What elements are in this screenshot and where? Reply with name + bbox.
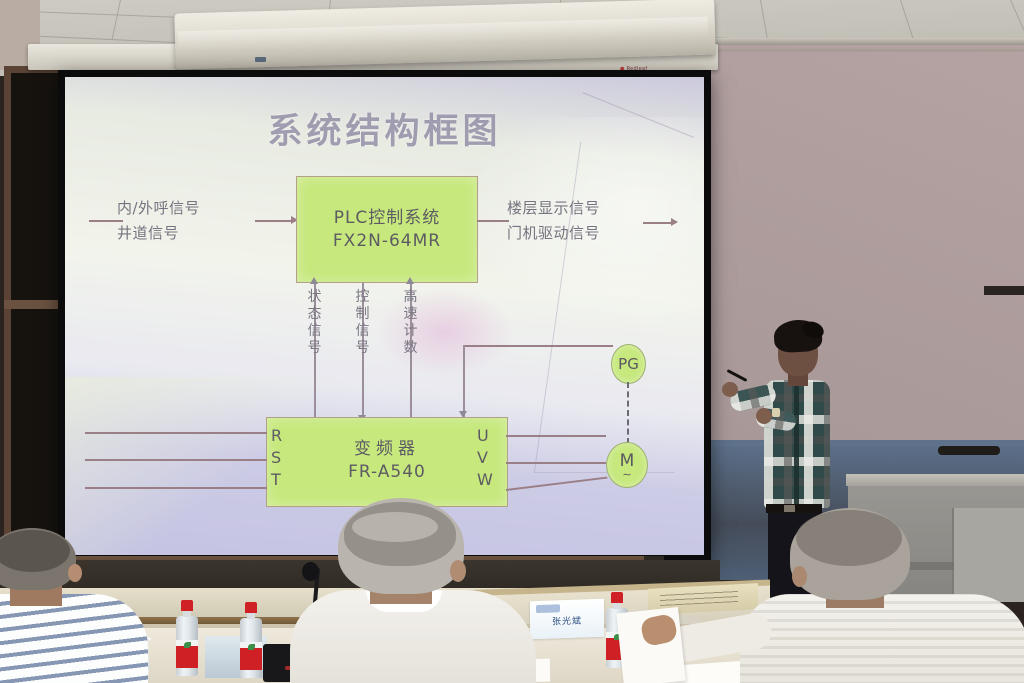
water-bottle-2 [240,602,262,678]
bottle-label-red [176,646,198,668]
wall-cornice-shadow [706,49,1024,52]
podium-top-surface [846,474,1024,486]
input-wire-stub [89,220,123,222]
attendee-middle [296,498,526,683]
presenter-right-hand [756,408,772,424]
bottle-neck [247,612,255,619]
input-wire-to-plc [255,220,295,222]
inverter-output-terminals: U V W [477,425,493,491]
shirt-placket [794,380,799,508]
motor-line-v [506,462,606,464]
water-bottle-1 [176,600,198,676]
bottle-leaf-logo [184,642,191,648]
vertical-label-highspeed: 高速计数 [403,289,418,357]
wall-shelf-bracket [984,286,1024,295]
pg-feedback-wire-v [463,345,465,417]
output-label-line1: 楼层显示信号 [507,199,677,218]
housing-connector [255,57,266,62]
wall-cornice [706,38,1024,45]
inverter-label-line2: FR-A540 [267,462,507,482]
output-arrow [671,218,678,226]
supply-line-s [85,459,267,461]
output-wire-from-plc [477,220,509,222]
motor-line-w [506,477,607,491]
attendee-middle-ear [450,560,466,582]
attendee-right-hair-dark [796,510,902,566]
motor-node: M ∼ [606,442,648,488]
highspeed-count-arrow [406,277,414,284]
pg-label: PG [618,355,639,373]
plc-label-line2: FX2N-64MR [297,231,477,251]
pg-encoder-node: PG [611,344,646,384]
slide-color-fringe-1 [375,287,515,377]
supply-line-r [85,432,267,434]
pg-motor-dashed-link [627,382,629,444]
input-label-line2: 井道信号 [117,224,277,243]
supply-line-t [85,487,267,489]
wall-mounted-rod [938,446,1000,455]
bottle-neck [183,610,191,617]
bottle-cap [245,602,257,613]
output-label-line2: 门机驱动信号 [507,224,677,243]
attendee-right-ear [792,566,807,587]
attendee-left-ear [68,564,82,582]
status-signal-arrow [310,277,318,284]
attendee-middle-hair-light [352,512,438,542]
terminal-t: T [271,469,287,491]
terminal-v: V [477,447,493,469]
bottle-cap [611,592,623,603]
bottle-neck [613,602,621,609]
motor-ac-symbol: ∼ [607,471,647,479]
terminal-s: S [271,447,287,469]
vertical-label-status: 状态信号 [307,289,322,357]
inverter-input-terminals: R S T [271,425,287,491]
slide-title: 系统结构框图 [65,103,704,154]
plc-label-line1: PLC控制系统 [297,203,477,228]
pg-feedback-wire-h [463,345,613,347]
terminal-u: U [477,425,493,447]
plc-block: PLC控制系统 FX2N-64MR [296,176,478,283]
attendee-right [752,508,1024,683]
attendee-left [0,528,148,683]
input-label-line1: 内/外呼信号 [117,199,277,218]
bottle-label-red [240,648,262,670]
attendee-left-body [0,594,148,683]
inverter-block: 变频器 FR-A540 [266,417,508,507]
projection-screen-frame: 系统结构框图 内/外呼信号 井道信号 PLC控制系统 FX2N-64MR 楼层显… [58,70,711,562]
terminal-r: R [271,425,287,447]
terminal-w: W [477,469,493,491]
wristwatch [772,408,780,417]
bottle-cap [181,600,193,611]
presenter-left-hand [722,382,738,397]
bottle-leaf-logo [248,644,255,650]
striped-shirt-pattern [0,594,148,683]
projected-slide: 系统结构框图 内/外呼信号 井道信号 PLC控制系统 FX2N-64MR 楼层显… [65,77,704,555]
motor-line-u [506,435,606,437]
name-card: 张光斌 [530,599,604,640]
photo-scene: ● Redleaf 系统结构框图 内/外呼信号 井道信号 PLC控制系统 FX2… [0,0,1024,683]
vertical-label-control: 控制信号 [355,289,370,357]
name-card-text: 张光斌 [530,613,604,629]
name-card-logo [536,604,560,613]
inverter-label-line1: 变频器 [267,434,507,459]
